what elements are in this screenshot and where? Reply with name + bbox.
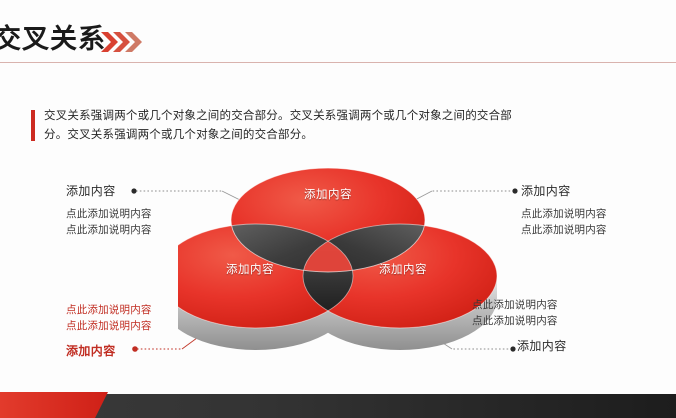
callout-line: 点此添加说明内容 <box>472 314 567 330</box>
venn-diagram: 添加内容 添加内容 添加内容 <box>178 158 502 363</box>
callout-bottom-left-title: 添加内容 <box>66 342 152 359</box>
callout-bottom-left-body: 点此添加说明内容 点此添加说明内容 <box>66 303 152 335</box>
callout-top-left-body: 点此添加说明内容 点此添加说明内容 <box>66 207 152 239</box>
callout-line: 点此添加说明内容 <box>66 303 152 319</box>
slide-canvas: 交叉关系 交叉关系强调两个或几个对象之间的交合部分。交叉关系强调两个或几个对象之… <box>0 0 676 418</box>
venn-label-top: 添加内容 <box>304 186 352 202</box>
callout-bottom-right: 点此添加说明内容 点此添加说明内容 添加内容 <box>472 298 567 354</box>
header-divider <box>0 62 676 63</box>
callout-line: 点此添加说明内容 <box>521 207 607 223</box>
callout-line: 点此添加说明内容 <box>472 298 567 314</box>
callout-top-left-title: 添加内容 <box>66 182 152 199</box>
venn-label-left: 添加内容 <box>226 261 274 277</box>
page-title: 交叉关系 <box>0 26 106 53</box>
callout-bottom-left: 点此添加说明内容 点此添加说明内容 添加内容 <box>66 303 152 359</box>
chevron-double-right-icon <box>100 30 146 54</box>
callout-line: 点此添加说明内容 <box>521 223 607 239</box>
callout-top-right-body: 点此添加说明内容 点此添加说明内容 <box>521 207 607 239</box>
callout-top-left: 添加内容 点此添加说明内容 点此添加说明内容 <box>66 182 152 239</box>
callout-bottom-right-body: 点此添加说明内容 点此添加说明内容 <box>472 298 567 330</box>
intro-paragraph: 交叉关系强调两个或几个对象之间的交合部分。交叉关系强调两个或几个对象之间的交合部… <box>44 107 514 145</box>
callout-bottom-right-title: 添加内容 <box>517 337 567 354</box>
intro-accent-bar <box>31 110 35 141</box>
callout-line: 点此添加说明内容 <box>66 319 152 335</box>
callout-top-right-title: 添加内容 <box>521 182 607 199</box>
callout-top-right: 添加内容 点此添加说明内容 点此添加说明内容 <box>521 182 607 239</box>
callout-line: 点此添加说明内容 <box>66 207 152 223</box>
footer-accent-shape <box>0 392 108 418</box>
venn-label-right: 添加内容 <box>379 261 427 277</box>
callout-line: 点此添加说明内容 <box>66 223 152 239</box>
